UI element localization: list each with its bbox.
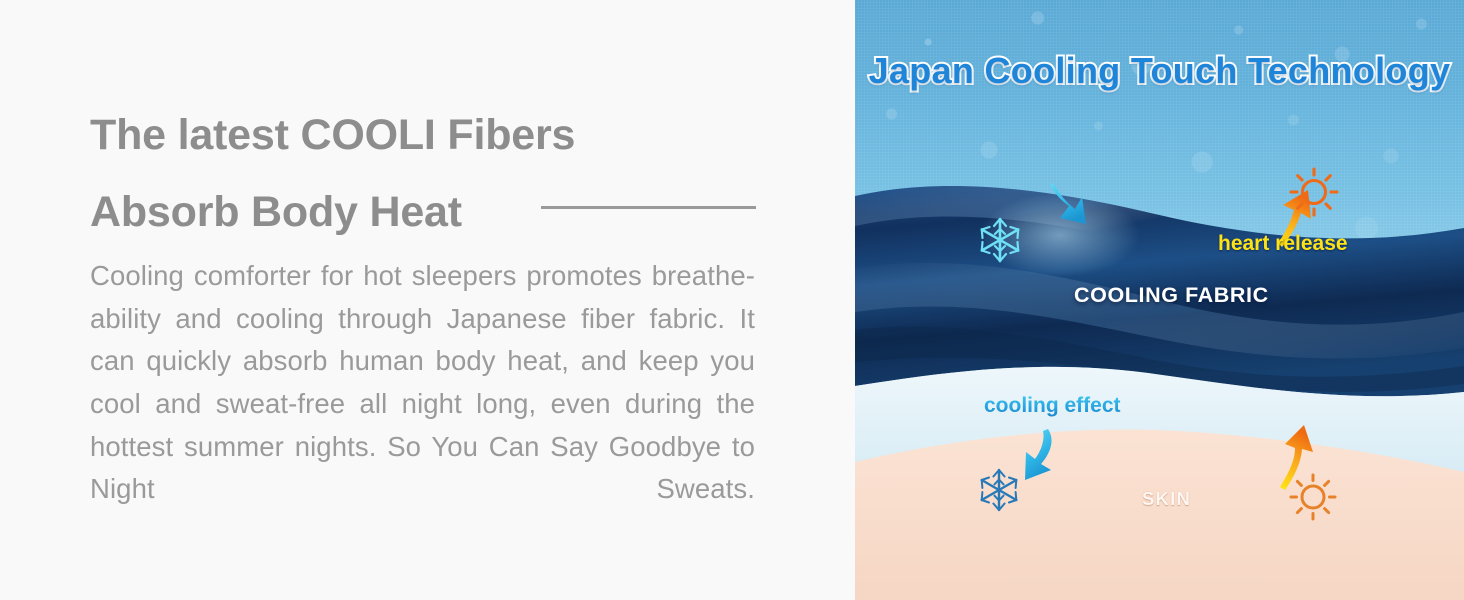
description-paragraph: Cooling comforter for hot sleepers promo… xyxy=(90,255,755,553)
label-cooling-fabric: COOLING FABRIC xyxy=(1074,283,1269,308)
label-cooling-effect: cooling effect xyxy=(984,394,1121,418)
text-panel: The latest COOLI Fibers Absorb Body Heat… xyxy=(0,0,855,600)
skin-layer xyxy=(855,430,1464,600)
technology-illustration: Japan Cooling Touch Technology heart rel… xyxy=(855,0,1464,600)
title-divider xyxy=(541,206,756,209)
label-skin: SKIN xyxy=(1142,488,1191,510)
page-title: The latest COOLI Fibers Absorb Body Heat xyxy=(90,97,790,250)
promo-banner: The latest COOLI Fibers Absorb Body Heat… xyxy=(0,0,1464,600)
sun-icon-fabric xyxy=(1291,169,1337,215)
label-heat-release: heart release xyxy=(1218,232,1348,256)
illustration-title: Japan Cooling Touch Technology xyxy=(855,50,1464,92)
